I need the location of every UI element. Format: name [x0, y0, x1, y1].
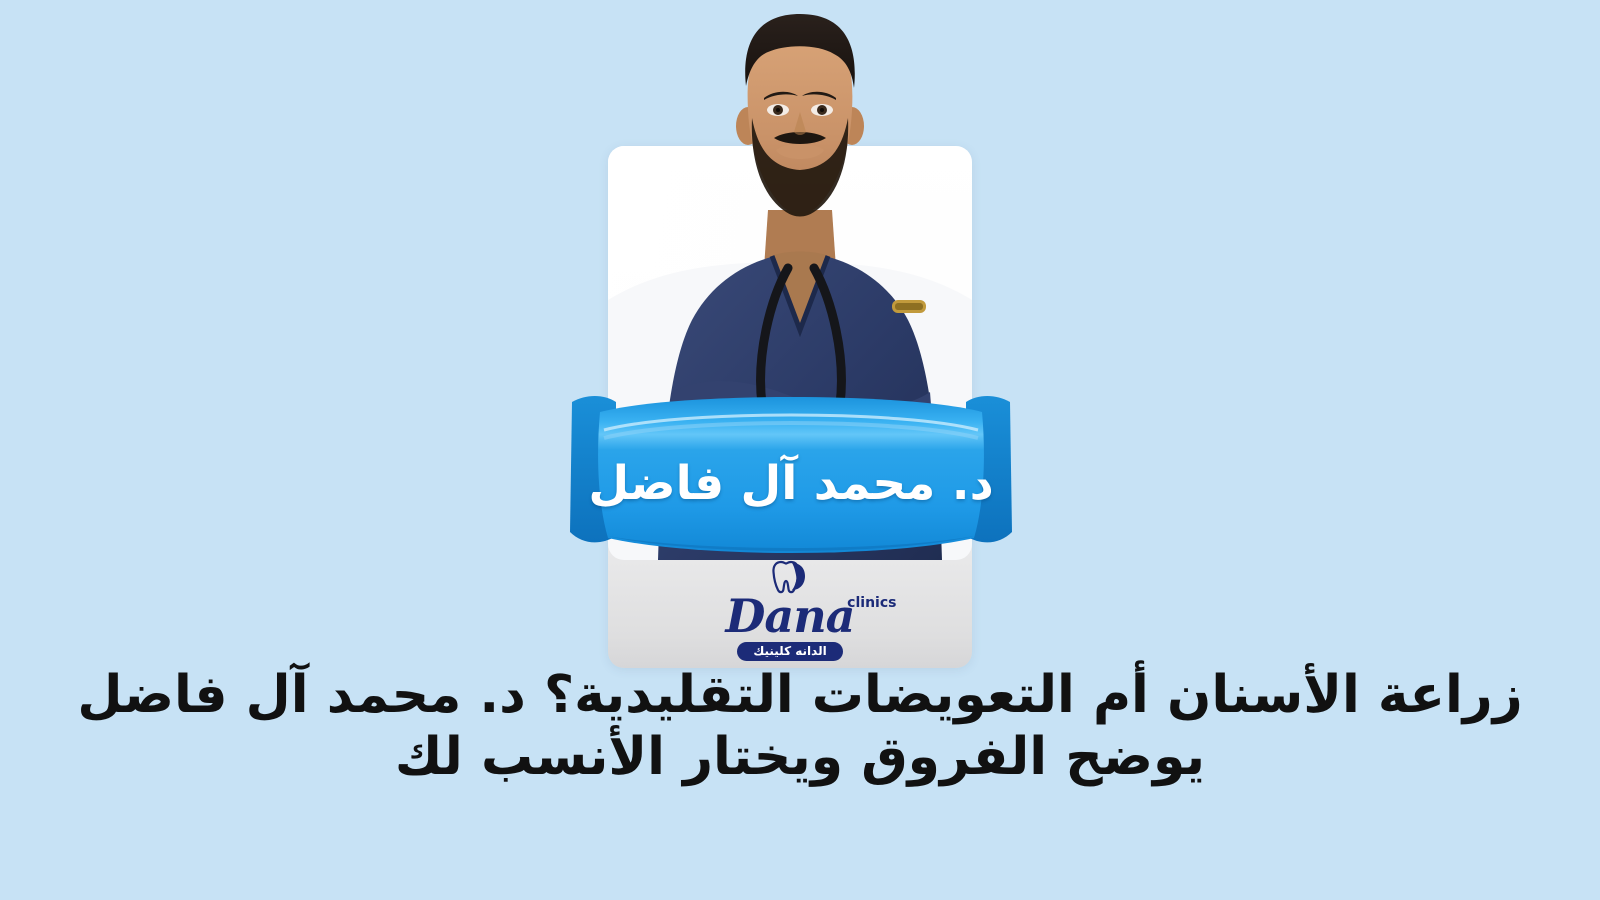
logo-wordmark-wrap: Dana clinics — [726, 595, 855, 639]
caption-line-2: يوضح الفروق ويختار الأنسب لك — [20, 726, 1580, 788]
caption-line-1: زراعة الأسنان أم التعويضات التقليدية؟ د.… — [20, 664, 1580, 726]
logo-arabic-pill: الدانه كلينيك — [737, 642, 842, 661]
doctor-name-label: د. محمد آل فاضل — [556, 460, 1026, 507]
logo-wordmark: Dana — [726, 589, 855, 643]
logo-superscript: clinics — [847, 597, 896, 610]
poster-canvas: د. محمد آل فاضل Dana clinics الدانه كلين… — [0, 0, 1600, 900]
caption-headline: زراعة الأسنان أم التعويضات التقليدية؟ د.… — [20, 664, 1580, 789]
clinic-logo: Dana clinics الدانه كلينيك — [608, 560, 972, 661]
name-ribbon: د. محمد آل فاضل — [556, 386, 1026, 564]
